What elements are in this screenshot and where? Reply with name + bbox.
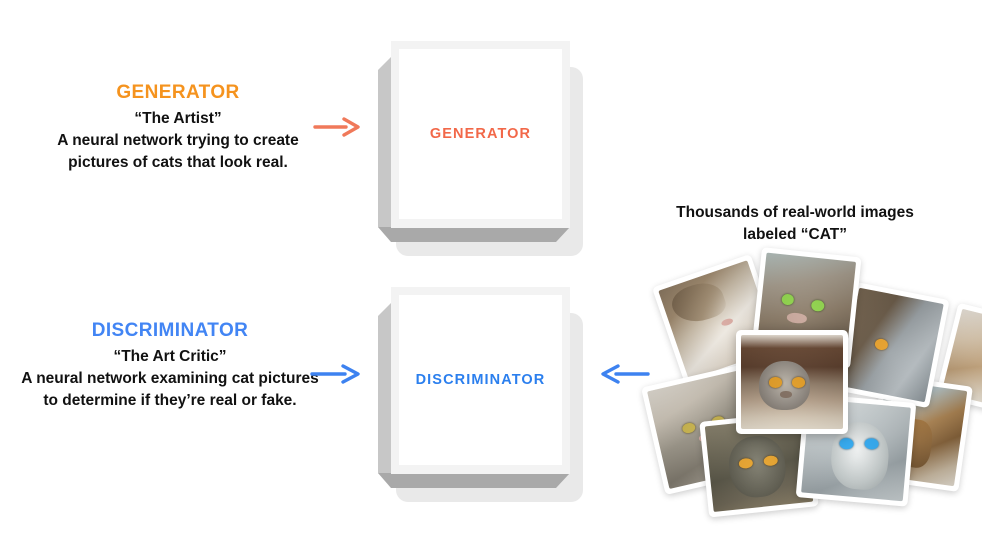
discriminator-box-front-face: DISCRIMINATOR [399, 295, 562, 465]
discriminator-box-side-face [378, 303, 392, 486]
generator-box[interactable]: GENERATOR [378, 41, 583, 256]
discriminator-arrow-right-icon [311, 363, 361, 385]
generator-caption-block: GENERATOR “The Artist” A neural network … [28, 80, 328, 174]
dataset-caption: Thousands of real-world images labeled “… [660, 202, 930, 247]
discriminator-box[interactable]: DISCRIMINATOR [378, 287, 583, 502]
cat-photo-cluster [652, 252, 982, 512]
discriminator-heading: DISCRIMINATOR [20, 318, 320, 344]
discriminator-description: A neural network examining cat pictures … [20, 368, 320, 412]
discriminator-box-bottom-bevel [378, 473, 570, 488]
generator-box-front-face: GENERATOR [399, 49, 562, 219]
generator-nickname: “The Artist” [28, 108, 328, 130]
cat-photo-cat-under-blanket[interactable] [736, 330, 848, 434]
discriminator-caption-block: DISCRIMINATOR “The Art Critic” A neural … [20, 318, 320, 412]
discriminator-nickname: “The Art Critic” [20, 346, 320, 368]
diagram-canvas: GENERATOR “The Artist” A neural network … [0, 0, 982, 549]
dataset-arrow-left-icon [601, 363, 649, 385]
generator-box-side-face [378, 57, 392, 240]
cat-photo-image [741, 335, 843, 429]
generator-description: A neural network trying to create pictur… [28, 130, 328, 174]
generator-box-label: GENERATOR [430, 126, 531, 142]
generator-box-bottom-bevel [378, 227, 570, 242]
generator-arrow-right-icon [314, 116, 360, 138]
discriminator-box-label: DISCRIMINATOR [416, 372, 546, 388]
generator-heading: GENERATOR [28, 80, 328, 106]
